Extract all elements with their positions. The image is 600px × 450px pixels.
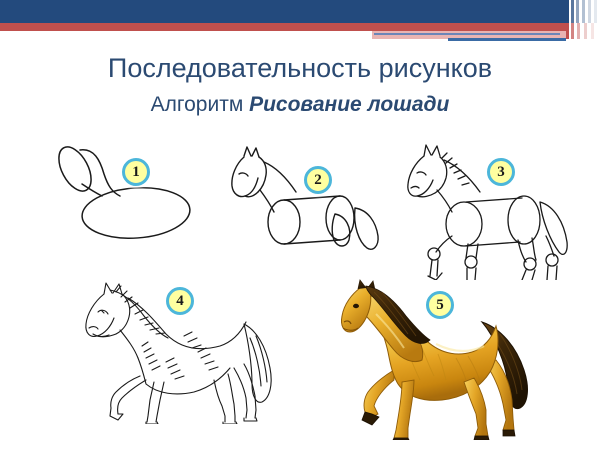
head-jaw bbox=[435, 157, 447, 193]
eye-pupil bbox=[102, 311, 104, 313]
head-outline bbox=[86, 294, 114, 336]
nostril-line bbox=[411, 187, 419, 189]
stripe bbox=[571, 0, 574, 23]
head-outline bbox=[408, 156, 433, 196]
rear-leg-far-back bbox=[244, 364, 256, 418]
stripe bbox=[566, 23, 569, 39]
neck-underline bbox=[120, 330, 138, 358]
head-outline bbox=[232, 157, 258, 197]
ear-left bbox=[358, 280, 366, 289]
front-leg-near-back bbox=[156, 382, 164, 422]
hoof-far-front bbox=[110, 408, 123, 420]
page-title: Последовательность рисунков bbox=[0, 52, 600, 85]
mane-outline bbox=[110, 290, 168, 338]
joint-hock-far bbox=[546, 254, 558, 266]
ear-left bbox=[244, 147, 251, 156]
stripe bbox=[571, 23, 574, 39]
step-badge-3: 3 bbox=[487, 158, 515, 186]
stripe bbox=[591, 23, 594, 39]
mane-hatching bbox=[442, 153, 469, 185]
neck-bottom bbox=[437, 190, 452, 212]
body-cap-rear bbox=[508, 196, 540, 244]
ear-right bbox=[252, 148, 259, 157]
stripe bbox=[576, 0, 579, 23]
step-badge-1: 1 bbox=[122, 158, 150, 186]
hoof-near-rear bbox=[474, 436, 489, 440]
step-badge-4: 4 bbox=[166, 287, 194, 315]
stripe bbox=[566, 0, 569, 23]
ear-left bbox=[424, 145, 431, 156]
header-band-red bbox=[0, 23, 600, 31]
step-badge-2: 2 bbox=[304, 166, 332, 194]
neck-top bbox=[264, 162, 296, 192]
header-band-white-cut bbox=[0, 31, 372, 46]
stripe bbox=[582, 0, 585, 23]
rear-leg-near bbox=[464, 378, 488, 436]
body-cap-front bbox=[268, 200, 300, 244]
stripe bbox=[588, 0, 591, 23]
neck-upper-line bbox=[80, 150, 120, 196]
rear-leg-near-front bbox=[214, 380, 225, 422]
tail-shape bbox=[540, 202, 567, 254]
head-oval bbox=[52, 142, 97, 196]
stripe bbox=[584, 23, 587, 39]
front-leg-near-front bbox=[147, 382, 154, 422]
stripe bbox=[594, 0, 597, 23]
ear-left bbox=[104, 283, 112, 294]
step-1-basic-shapes bbox=[48, 142, 198, 254]
rear-leg-far-lower bbox=[547, 266, 557, 280]
front-leg-near bbox=[394, 380, 414, 438]
front-leg-far-back bbox=[118, 380, 146, 414]
step-2-head-and-body bbox=[222, 142, 392, 260]
eye-line bbox=[239, 173, 248, 176]
rear-leg-far-upper bbox=[546, 236, 554, 256]
flank-hatching bbox=[198, 348, 218, 370]
front-leg-far bbox=[364, 370, 394, 418]
head bbox=[341, 287, 370, 332]
neck-top bbox=[444, 160, 480, 192]
joint-knee-far-front bbox=[428, 248, 440, 260]
mane-hatching bbox=[116, 286, 165, 334]
front-leg-far-lower bbox=[430, 260, 438, 276]
rear-leg-near-back bbox=[228, 374, 235, 422]
joint-knee-near-front bbox=[465, 256, 477, 268]
ear-right bbox=[432, 146, 440, 156]
step-badge-5: 5 bbox=[426, 291, 454, 319]
header-rule-thin bbox=[374, 33, 560, 35]
page-subtitle: Алгоритм Рисование лошади bbox=[0, 92, 600, 118]
header-vertical-stripes bbox=[566, 0, 600, 46]
rear-leg-far-front bbox=[234, 368, 247, 418]
front-leg-far-upper bbox=[111, 376, 140, 408]
tail-hair-lines bbox=[250, 336, 267, 386]
header-band-navy bbox=[0, 0, 600, 23]
haunch-shape bbox=[332, 214, 350, 246]
stripe bbox=[577, 23, 580, 39]
shoulder-hatching bbox=[142, 342, 160, 370]
header-rule-thick bbox=[448, 38, 580, 41]
body-cap-front bbox=[446, 202, 482, 246]
nostril bbox=[89, 327, 98, 329]
hoof-far-rear bbox=[503, 430, 515, 436]
eye-line bbox=[417, 172, 426, 175]
subtitle-prefix: Алгоритм bbox=[151, 93, 249, 116]
eye bbox=[353, 304, 359, 308]
hoof-near-front bbox=[393, 438, 409, 440]
barrel-hatching bbox=[166, 358, 184, 379]
header-banner bbox=[0, 0, 600, 46]
joint-hock-near bbox=[524, 258, 536, 270]
rear-leg-near-upper2 bbox=[532, 238, 536, 260]
subtitle-emphasis: Рисование лошади bbox=[249, 93, 449, 116]
back-hatching bbox=[184, 332, 201, 348]
rear-leg-shape bbox=[355, 208, 378, 249]
back-highlight bbox=[436, 344, 484, 351]
